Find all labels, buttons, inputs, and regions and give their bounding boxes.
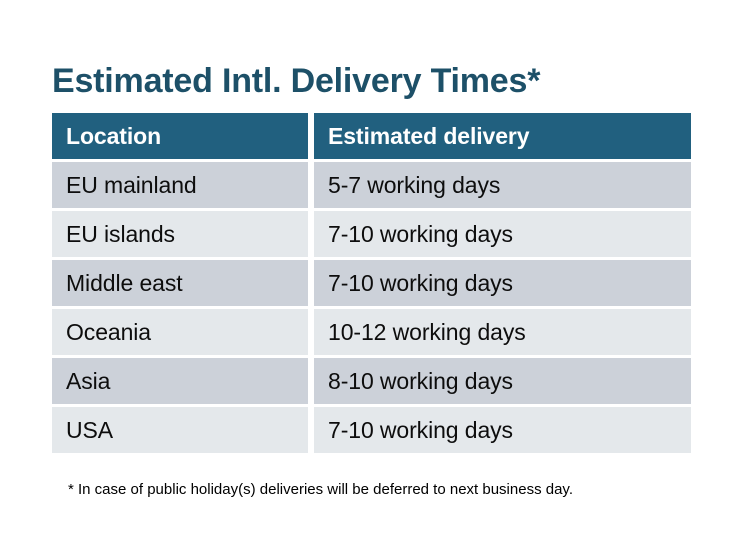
cell-location-text: USA [52,417,308,444]
column-header-delivery-label: Estimated delivery [314,123,691,150]
cell-delivery-text: 5-7 working days [314,172,691,199]
cell-location: EU islands [52,211,314,257]
cell-location: EU mainland [52,162,314,208]
cell-location: Oceania [52,309,314,355]
cell-location-text: EU mainland [52,172,308,199]
table-row: Middle east 7-10 working days [52,260,691,306]
cell-location: Middle east [52,260,314,306]
table-header-row: Location Estimated delivery [52,113,691,159]
column-header-delivery: Estimated delivery [314,113,691,159]
table-row: EU islands 7-10 working days [52,211,691,257]
delivery-times-page: Estimated Intl. Delivery Times* Location… [0,0,745,536]
cell-location-text: Middle east [52,270,308,297]
cell-delivery-text: 8-10 working days [314,368,691,395]
table-row: EU mainland 5-7 working days [52,162,691,208]
table-row: Asia 8-10 working days [52,358,691,404]
cell-location: Asia [52,358,314,404]
footnote: * In case of public holiday(s) deliverie… [68,480,573,500]
page-title: Estimated Intl. Delivery Times* [52,61,540,101]
table-row: USA 7-10 working days [52,407,691,453]
cell-location-text: Asia [52,368,308,395]
cell-delivery-text: 7-10 working days [314,270,691,297]
cell-delivery: 7-10 working days [314,407,691,453]
cell-delivery-text: 10-12 working days [314,319,691,346]
cell-delivery: 5-7 working days [314,162,691,208]
cell-location-text: EU islands [52,221,308,248]
cell-delivery-text: 7-10 working days [314,221,691,248]
cell-delivery: 7-10 working days [314,260,691,306]
cell-delivery: 8-10 working days [314,358,691,404]
delivery-times-table: Location Estimated delivery EU mainland … [52,113,691,453]
table-row: Oceania 10-12 working days [52,309,691,355]
column-header-location: Location [52,113,314,159]
column-header-location-label: Location [52,123,308,150]
cell-delivery-text: 7-10 working days [314,417,691,444]
cell-location-text: Oceania [52,319,308,346]
cell-delivery: 10-12 working days [314,309,691,355]
cell-location: USA [52,407,314,453]
cell-delivery: 7-10 working days [314,211,691,257]
